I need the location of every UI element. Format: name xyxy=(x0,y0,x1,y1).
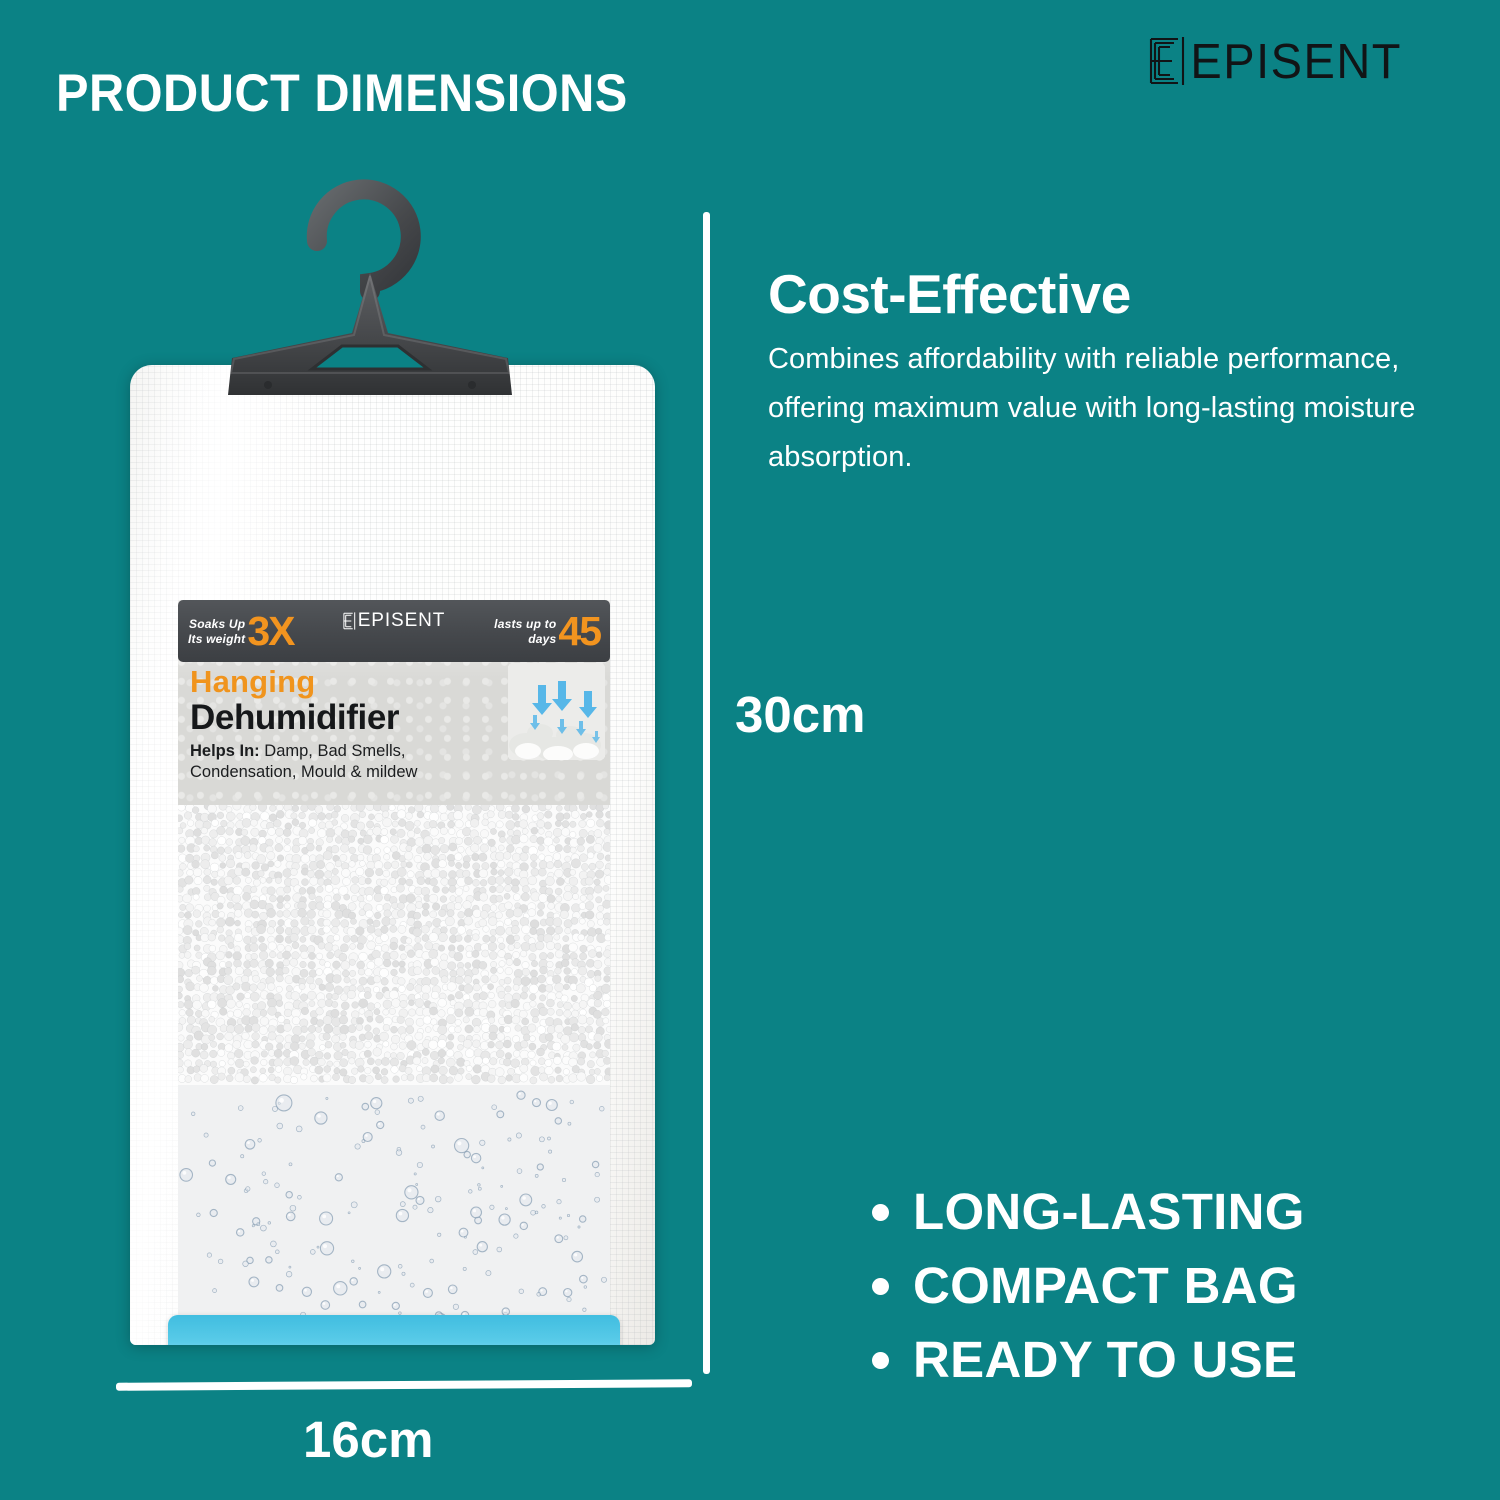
absorbent-crystals-icon xyxy=(178,805,610,1085)
label-helps-text: Helps In: Damp, Bad Smells, Condensation… xyxy=(190,741,490,783)
benefit-label: COMPACT BAG xyxy=(913,1252,1298,1320)
episent-e-mark-icon xyxy=(343,612,356,630)
duration-claim-line2: days xyxy=(494,632,556,647)
plastic-hook-hanger-icon xyxy=(220,173,520,403)
dehumidifier-bag: Soaks Up Its weight 3X EPISENT xyxy=(130,365,655,1345)
brand-wordmark: EPISENT xyxy=(1190,35,1402,88)
label-inset-image xyxy=(508,663,605,760)
duration-claim-line1: lasts up to xyxy=(494,617,556,632)
label-helps-label: Helps In: xyxy=(190,742,260,760)
bullet-dot-icon xyxy=(872,1352,889,1369)
list-item: COMPACT BAG xyxy=(872,1252,1492,1320)
moisture-absorption-arrows-icon xyxy=(508,663,605,760)
label-brand-logo: EPISENT xyxy=(343,611,446,630)
height-dimension-label: 30cm xyxy=(735,685,865,744)
width-dimension-label: 16cm xyxy=(303,1410,433,1469)
height-dimension-line xyxy=(703,212,710,1374)
bullet-dot-icon xyxy=(872,1204,889,1221)
label-title-main: Dehumidifier xyxy=(190,698,399,738)
page-title: PRODUCT DIMENSIONS xyxy=(56,63,628,124)
duration-claim-value: 45 xyxy=(558,611,600,652)
liquid-pouch xyxy=(168,1315,620,1345)
duration-claim-text: lasts up to days xyxy=(494,617,556,647)
feature-body: Combines affordability with reliable per… xyxy=(768,335,1486,482)
crystal-section xyxy=(178,805,610,1085)
benefit-label: LONG-LASTING xyxy=(913,1178,1305,1246)
label-claim-banner: Soaks Up Its weight 3X EPISENT xyxy=(178,600,610,662)
list-item: READY TO USE xyxy=(872,1326,1492,1394)
water-droplets-icon xyxy=(178,1085,610,1330)
label-title-accent: Hanging xyxy=(190,665,315,699)
bullet-dot-icon xyxy=(872,1278,889,1295)
pouch-top-fold xyxy=(168,1315,620,1345)
episent-e-mark-icon xyxy=(1148,36,1186,86)
benefit-label: READY TO USE xyxy=(913,1326,1297,1394)
width-dimension-line xyxy=(116,1379,692,1391)
list-item: LONG-LASTING xyxy=(872,1178,1492,1246)
label-brand-wordmark: EPISENT xyxy=(358,611,446,630)
soak-claim-line1: Soaks Up xyxy=(188,617,245,632)
water-collection-window xyxy=(178,1085,610,1330)
duration-claim: lasts up to days 45 xyxy=(494,611,600,652)
product-image: Soaks Up Its weight 3X EPISENT xyxy=(110,165,670,1360)
soak-claim-value: 3X xyxy=(247,611,293,652)
benefit-list: LONG-LASTING COMPACT BAG READY TO USE xyxy=(872,1178,1492,1400)
feature-heading: Cost-Effective xyxy=(768,262,1131,326)
soak-claim: Soaks Up Its weight 3X xyxy=(188,611,294,652)
brand-logo: EPISENT xyxy=(1148,36,1402,86)
soak-claim-text: Soaks Up Its weight xyxy=(188,617,245,647)
soak-claim-line2: Its weight xyxy=(188,632,245,647)
